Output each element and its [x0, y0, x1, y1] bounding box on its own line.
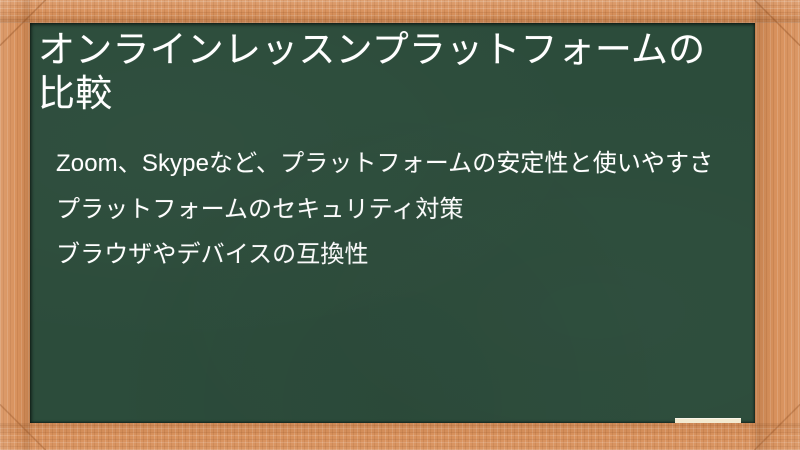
chalk-piece: [675, 418, 741, 423]
frame-edge-right: [755, 0, 800, 450]
bullet-list: Zoom、Skypeなど、プラットフォームの安定性と使いやすさ プラットフォーム…: [56, 148, 746, 285]
bullet-item-3: ブラウザやデバイスの互換性: [56, 239, 746, 272]
bullet-item-1: Zoom、Skypeなど、プラットフォームの安定性と使いやすさ: [56, 148, 746, 181]
bullet-item-2: プラットフォームのセキュリティ対策: [56, 194, 746, 227]
slide-title: オンラインレッスンプラットフォームの比較: [38, 28, 738, 117]
chalkboard-slide: オンラインレッスンプラットフォームの比較 Zoom、Skypeなど、プラットフォ…: [0, 0, 800, 450]
chalkboard-surface: オンラインレッスンプラットフォームの比較 Zoom、Skypeなど、プラットフォ…: [30, 23, 755, 423]
frame-edge-bottom: [0, 423, 800, 450]
frame-edge-top: [0, 0, 800, 23]
board-content: オンラインレッスンプラットフォームの比較 Zoom、Skypeなど、プラットフォ…: [30, 23, 755, 423]
frame-edge-left: [0, 0, 30, 450]
